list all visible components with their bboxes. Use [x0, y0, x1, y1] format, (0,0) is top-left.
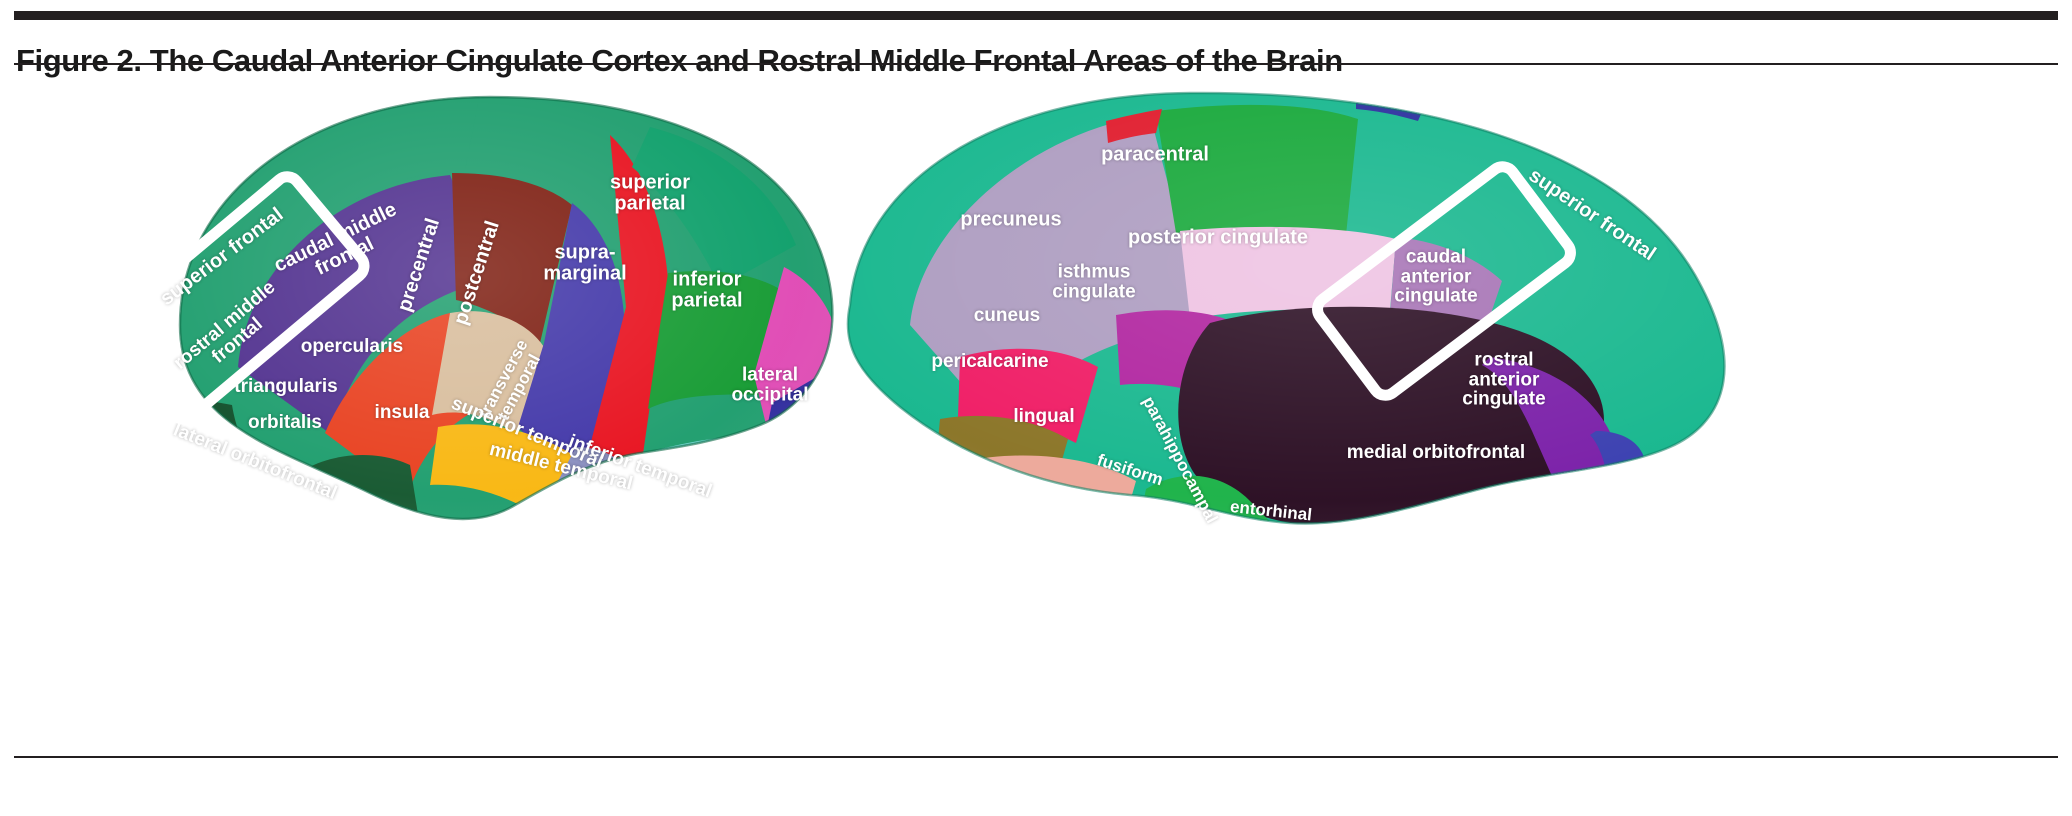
figure-title: Figure 2. The Caudal Anterior Cingulate … [16, 43, 2052, 79]
bottom-rule [14, 756, 2058, 758]
figure-root: Figure 2. The Caudal Anterior Cingulate … [0, 0, 2072, 816]
brain-illustration-panel: superior frontal caudal middle frontal r… [0, 75, 2072, 745]
title-rule [14, 63, 2058, 65]
top-rule [14, 11, 2058, 20]
